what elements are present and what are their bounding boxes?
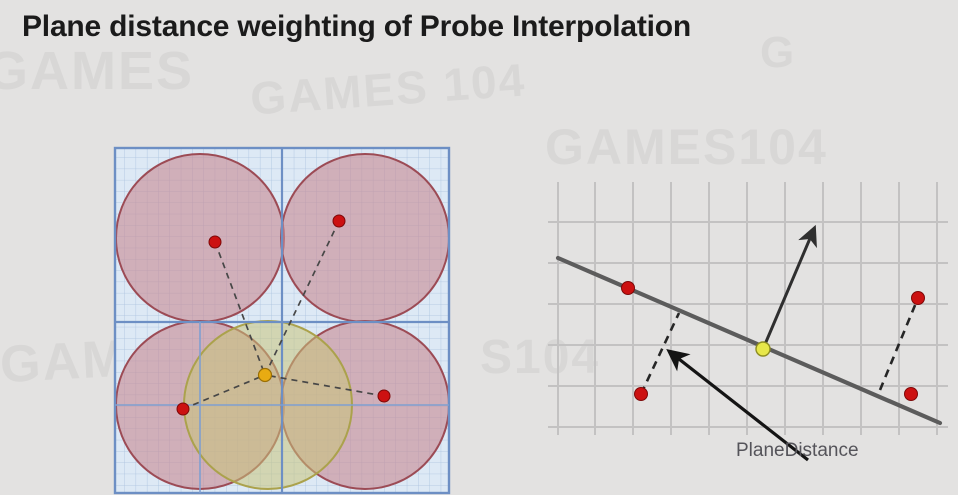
probe-grid-interpolation-figure bbox=[113, 146, 451, 495]
plane-grid bbox=[548, 182, 948, 435]
plane-distance-caption: PlaneDistance bbox=[736, 440, 859, 462]
probe-on-plane bbox=[622, 282, 635, 295]
probe-below-left bbox=[635, 388, 648, 401]
shading-point bbox=[259, 369, 272, 382]
probe-below-right bbox=[905, 388, 918, 401]
page-title: Plane distance weighting of Probe Interp… bbox=[22, 10, 691, 44]
influence-circle-top-left bbox=[116, 154, 284, 322]
probe-bottom-right bbox=[378, 390, 390, 402]
probe-bottom-left bbox=[177, 403, 189, 415]
slide: GAMES GAMES 104 GAMES104 GAMES S104 G Pl… bbox=[0, 0, 958, 495]
probe-above-right bbox=[912, 292, 925, 305]
plane-normal-arrow bbox=[763, 229, 814, 349]
plane-line bbox=[558, 258, 940, 423]
influence-circle-top-right bbox=[281, 154, 449, 322]
watermark-text: GAMES 104 bbox=[248, 52, 527, 125]
probe-top-right bbox=[333, 215, 345, 227]
watermark-text: GAMES bbox=[0, 40, 194, 102]
plane-distance-figure bbox=[548, 165, 948, 475]
probe-top-left bbox=[209, 236, 221, 248]
watermark-text: G bbox=[760, 28, 796, 78]
shading-point bbox=[756, 342, 770, 356]
